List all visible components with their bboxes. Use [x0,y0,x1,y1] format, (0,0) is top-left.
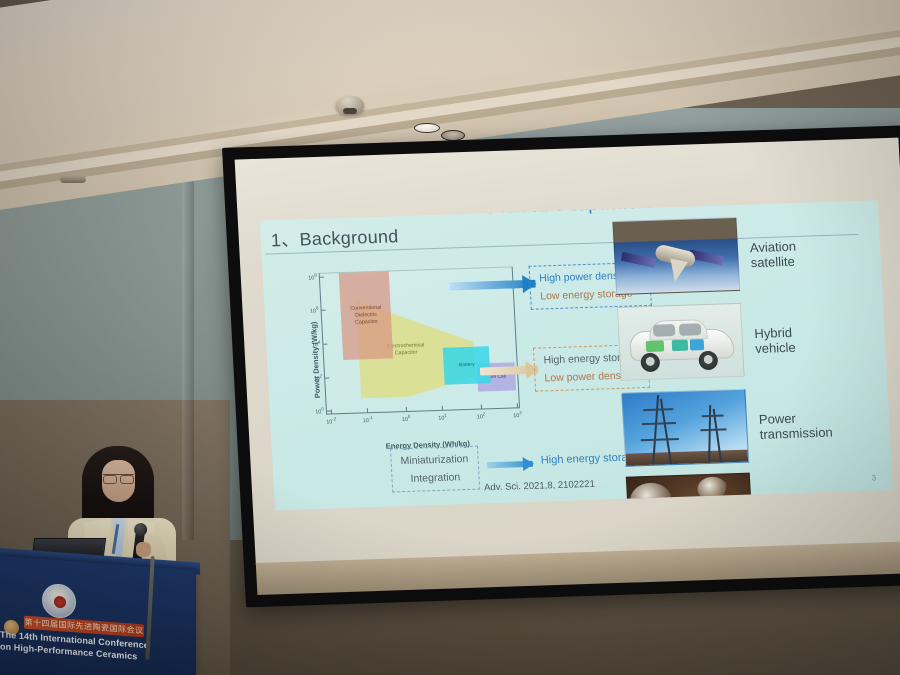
citation-text: Adv. Sci. 2021,8, 2102221 [484,479,595,494]
arrow-to-result [487,464,533,466]
screen-surface: 1、Background Dielectric capacitors Power… [235,138,900,565]
satellite-photo [612,217,740,295]
chart-y-axis-label: Power Density (W/kg) [309,322,322,399]
arrow-to-high-power-box [450,284,536,287]
wall-lamp [60,176,86,183]
callout-line: Integration [401,471,469,485]
application-label: Aviation satellite [750,239,798,271]
laser-weapon-photo [626,473,754,511]
arrow-to-high-energy-box [480,370,538,372]
chart-x-tick: 100 [402,414,411,423]
application-item-power-transmission: Power transmission [621,384,885,471]
application-list: Aviation satellite Hybrid vehicle [612,212,890,510]
ceiling-light [414,123,440,133]
page-title: 1、Background [270,222,399,252]
section-number: 1、 [270,229,300,250]
slide-number: 3 [871,473,876,482]
chart-region-battery: Battery [443,347,491,385]
wall-corner-edge [182,120,194,540]
chart-y-tick: 108 [308,272,317,281]
application-label: Power transmission [759,410,834,443]
hybrid-car-photo [617,303,745,381]
conference-room-photo: 1、Background Dielectric capacitors Power… [0,0,900,675]
application-label: Hybrid vehicle [754,325,796,357]
application-label: Laser weapon [763,494,810,510]
glasses-icon [103,474,134,481]
application-item-hybrid-vehicle: Hybrid vehicle [617,298,881,385]
application-item-laser-weapon: Laser weapon [626,468,890,510]
presenter-hand [136,542,151,557]
chart-region-label: Conventional Dielectric Capacitor [350,305,382,326]
chart-x-tick: 10-1 [362,415,373,424]
chart-x-tick: 102 [476,411,485,420]
chart-y-tick: 100 [315,406,324,415]
slide-subtitle: Dielectric capacitors [487,200,653,218]
transmission-pylon-photo [621,389,749,467]
chart-region-label: Battery [459,362,475,369]
chart-y-tick: 102 [313,373,322,382]
projection-screen: 1、Background Dielectric capacitors Power… [222,125,900,607]
callout-miniaturization: Miniaturization Integration [390,446,480,493]
smoke-detector-icon [336,96,364,114]
chart-x-tick: 103 [513,410,522,419]
chart-x-tick: 10-2 [326,416,337,425]
presentation-slide: 1、Background Dielectric capacitors Power… [260,200,893,510]
chart-y-tick: 106 [310,306,319,315]
callout-line: Miniaturization [400,453,468,467]
chart-x-tick: 101 [438,413,447,422]
section-title: Background [299,226,399,249]
application-item-aviation-satellite: Aviation satellite [612,212,876,299]
chart-y-tick: 104 [312,339,321,348]
chart-region-conventional-dielectric-capacitor: Conventional Dielectric Capacitor [339,272,393,360]
